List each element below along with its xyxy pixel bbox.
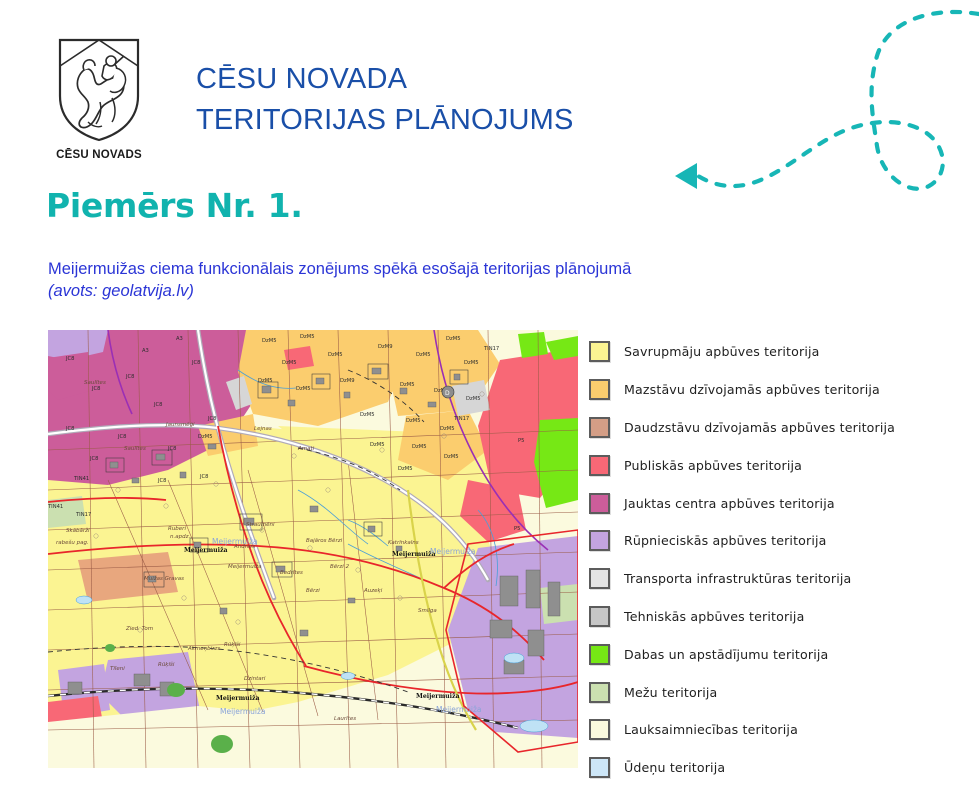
svg-text:rabešu pag.: rabešu pag.	[56, 539, 89, 546]
svg-text:D: D	[445, 390, 450, 397]
svg-text:A3: A3	[142, 348, 149, 354]
svg-text:Lejnas: Lejnas	[254, 426, 272, 432]
legend-item[interactable]: Dabas un apstādījumu teritorija	[589, 635, 969, 673]
svg-text:n.apdz.: n.apdz.	[170, 534, 190, 540]
svg-text:DzM5: DzM5	[444, 454, 459, 460]
legend-label: Savrupmāju apbūves teritorija	[624, 344, 820, 359]
svg-text:Meijermuiža: Meijermuiža	[430, 547, 476, 556]
svg-text:JC8: JC8	[91, 386, 100, 392]
svg-text:Smilga: Smilga	[418, 608, 437, 614]
map-figure[interactable]: .lbl { font-family:"DejaVu Sans",sans-se…	[48, 330, 578, 768]
svg-text:JC8: JC8	[191, 360, 200, 366]
legend-swatch-icon	[589, 682, 610, 703]
svg-text:JC8: JC8	[153, 402, 162, 408]
svg-text:Straumēni: Straumēni	[246, 522, 275, 528]
svg-text:Meijermuiža: Meijermuiža	[216, 695, 260, 702]
legend-label: Jauktas centra apbūves teritorija	[624, 496, 835, 511]
territorial-plan-map-icon[interactable]: .lbl { font-family:"DejaVu Sans",sans-se…	[48, 330, 578, 768]
dotted-loop-arrow-icon	[629, 0, 979, 212]
legend-item[interactable]: Savrupmāju apbūves teritorija	[589, 333, 969, 371]
legend-swatch-icon	[589, 455, 610, 476]
svg-text:Meijermuiža: Meijermuiža	[228, 563, 262, 570]
legend-item[interactable]: Mežu teritorija	[589, 673, 969, 711]
svg-text:Saulītes: Saulītes	[124, 446, 146, 452]
page-title-line2: TERITORIJAS PLĀNOJUMS	[196, 100, 574, 141]
subtitle: Meijermuižas ciema funkcionālais zonējum…	[48, 258, 868, 302]
svg-text:DzM5: DzM5	[416, 352, 431, 358]
legend-label: Daudzstāvu dzīvojamās apbūves teritorija	[624, 420, 895, 435]
triangle-left-arrowhead-icon	[675, 163, 697, 189]
svg-text:DzM5: DzM5	[300, 334, 315, 340]
svg-text:Amati: Amati	[297, 446, 315, 452]
legend-swatch-icon	[589, 757, 610, 778]
svg-text:Meijermuiža: Meijermuiža	[212, 537, 258, 546]
legend-label: Ūdeņu teritorija	[624, 760, 725, 775]
legend-swatch-icon	[589, 568, 610, 589]
example-heading: Piemērs Nr. 1.	[46, 186, 303, 225]
page-title-line1: CĒSU NOVADA	[196, 59, 574, 100]
svg-text:TIN41: TIN41	[73, 476, 89, 482]
legend-swatch-icon	[589, 341, 610, 362]
svg-text:Zied. Tom: Zied. Tom	[125, 626, 153, 632]
svg-text:DzM5: DzM5	[446, 336, 461, 342]
legend-swatch-icon	[589, 606, 610, 627]
svg-text:Rūķīši: Rūķīši	[158, 661, 175, 668]
svg-text:DzM9: DzM9	[340, 378, 355, 384]
svg-text:JC8: JC8	[157, 478, 166, 484]
svg-text:Jaunsmēģi: Jaunsmēģi	[165, 422, 195, 428]
legend-item[interactable]: Tehniskās apbūves teritorija	[589, 598, 969, 636]
subtitle-line: Meijermuižas ciema funkcionālais zonējum…	[48, 260, 631, 278]
legend-item[interactable]: Mazstāvu dzīvojamās apbūves teritorija	[589, 371, 969, 409]
svg-text:DzM5: DzM5	[466, 396, 481, 402]
svg-text:P5: P5	[518, 438, 524, 444]
svg-text:TIN17: TIN17	[75, 512, 91, 518]
legend-label: Rūpnieciskās apbūves teritorija	[624, 533, 827, 548]
svg-text:DzM5: DzM5	[296, 386, 311, 392]
svg-text:JC8: JC8	[65, 426, 74, 432]
svg-text:Rūķīši: Rūķīši	[224, 641, 241, 648]
svg-text:TIN17: TIN17	[483, 346, 499, 352]
svg-text:TIN17: TIN17	[453, 416, 469, 422]
legend-item[interactable]: Daudzstāvu dzīvojamās apbūves teritorija	[589, 409, 969, 447]
svg-text:DzM5: DzM5	[262, 338, 277, 344]
svg-text:DzM5: DzM5	[370, 442, 385, 448]
crest-caption: CĒSU NOVADS	[45, 149, 153, 161]
svg-text:Bedrītes: Bedrītes	[280, 570, 303, 576]
legend-item[interactable]: Lauksaimniecības teritorija	[589, 711, 969, 749]
svg-text:JC8: JC8	[125, 374, 134, 380]
svg-text:Meijermuiža: Meijermuiža	[184, 547, 228, 554]
svg-text:DzM5: DzM5	[328, 352, 343, 358]
svg-text:Meijermuiža: Meijermuiža	[436, 705, 482, 714]
svg-text:Saulītes: Saulītes	[84, 380, 106, 386]
legend-label: Lauksaimniecības teritorija	[624, 722, 798, 737]
subtitle-source: (avots: geolatvija.lv)	[48, 280, 868, 302]
legend-item[interactable]: Jauktas centra apbūves teritorija	[589, 484, 969, 522]
svg-text:Tīleni: Tīleni	[110, 666, 125, 672]
legend-swatch-icon	[589, 493, 610, 514]
legend-label: Mežu teritorija	[624, 685, 717, 700]
legend-item[interactable]: Publiskās apbūves teritorija	[589, 446, 969, 484]
legend-label: Dabas un apstādījumu teritorija	[624, 647, 828, 662]
legend-swatch-icon	[589, 379, 610, 400]
svg-text:JC8: JC8	[199, 474, 208, 480]
legend-swatch-icon	[589, 530, 610, 551]
svg-text:Bērzi 2: Bērzi 2	[330, 564, 350, 570]
svg-text:JC8: JC8	[89, 456, 98, 462]
legend-label: Publiskās apbūves teritorija	[624, 458, 802, 473]
svg-text:JC8: JC8	[167, 446, 176, 452]
svg-text:DzM5: DzM5	[400, 382, 415, 388]
legend-swatch-icon	[589, 417, 610, 438]
svg-text:Dzintari: Dzintari	[244, 676, 266, 682]
svg-text:Akmeņbirzs: Akmeņbirzs	[187, 646, 220, 652]
svg-text:Skābārži: Skābārži	[66, 527, 90, 534]
svg-text:Muižas Gravas: Muižas Gravas	[144, 575, 184, 582]
svg-text:Meijermuiža: Meijermuiža	[416, 693, 460, 700]
svg-text:JC8: JC8	[65, 356, 74, 362]
legend-item[interactable]: Transporta infrastruktūras teritorija	[589, 560, 969, 598]
svg-text:Meijermuiža: Meijermuiža	[392, 551, 436, 558]
svg-text:Meijermuiža: Meijermuiža	[220, 707, 266, 716]
svg-text:DzM5: DzM5	[360, 412, 375, 418]
svg-text:DzM9: DzM9	[378, 344, 393, 350]
svg-text:DzM5: DzM5	[282, 360, 297, 366]
map-legend: Savrupmāju apbūves teritorija Mazstāvu d…	[589, 333, 969, 787]
svg-text:DzM5: DzM5	[198, 434, 213, 440]
svg-text:DzM5: DzM5	[406, 418, 421, 424]
legend-swatch-icon	[589, 719, 610, 740]
svg-text:DzM5: DzM5	[398, 466, 413, 472]
coat-of-arms-icon	[54, 36, 144, 144]
svg-text:A3: A3	[176, 336, 183, 342]
svg-text:Auzeķi: Auzeķi	[363, 588, 383, 594]
svg-text:Ruberi: Ruberi	[168, 526, 186, 532]
svg-text:JC8: JC8	[207, 416, 216, 422]
svg-text:JC8: JC8	[117, 434, 126, 440]
svg-text:Bajāros Bērzi: Bajāros Bērzi	[306, 538, 343, 544]
crest-block: CĒSU NOVADS	[45, 36, 153, 161]
legend-item[interactable]: Ūdeņu teritorija	[589, 749, 969, 787]
legend-label: Mazstāvu dzīvojamās apbūves teritorija	[624, 382, 880, 397]
legend-label: Tehniskās apbūves teritorija	[624, 609, 804, 624]
svg-text:Bērzi: Bērzi	[306, 588, 320, 594]
page-title: CĒSU NOVADA TERITORIJAS PLĀNOJUMS	[196, 59, 574, 141]
svg-text:TIN41: TIN41	[48, 504, 63, 510]
svg-text:DzM5: DzM5	[258, 378, 273, 384]
svg-text:DzM5: DzM5	[440, 426, 455, 432]
svg-text:P5: P5	[514, 526, 520, 532]
slide-root: CĒSU NOVADS CĒSU NOVADA TERITORIJAS PLĀN…	[0, 0, 979, 808]
svg-text:Katrīnkalns: Katrīnkalns	[388, 540, 419, 546]
svg-text:DzM5: DzM5	[412, 444, 427, 450]
legend-swatch-icon	[589, 644, 610, 665]
svg-text:DzM5: DzM5	[464, 360, 479, 366]
legend-label: Transporta infrastruktūras teritorija	[624, 571, 851, 586]
svg-text:Laurītes: Laurītes	[334, 716, 356, 722]
legend-item[interactable]: Rūpnieciskās apbūves teritorija	[589, 522, 969, 560]
